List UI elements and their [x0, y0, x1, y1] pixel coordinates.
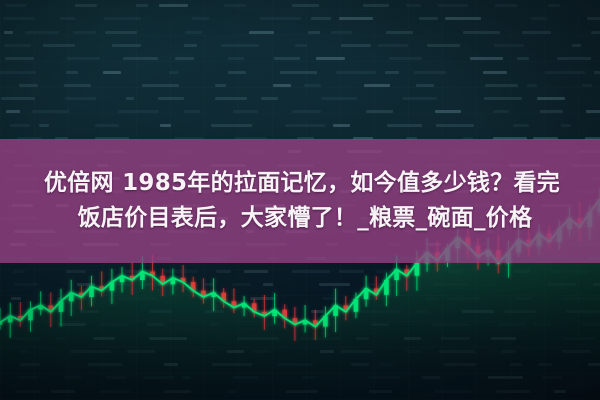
headline-line-2: 饭店价目表后，大家懵了！_粮票_碗面_价格 [68, 201, 533, 236]
headline-line-1: 优倍网 1985年的拉面记忆，如今值多少钱？看完 [40, 166, 560, 201]
headline-banner: 优倍网 1985年的拉面记忆，如今值多少钱？看完 饭店价目表后，大家懵了！_粮票… [0, 139, 600, 263]
article-thumbnail-card: 优倍网 1985年的拉面记忆，如今值多少钱？看完 饭店价目表后，大家懵了！_粮票… [0, 0, 600, 400]
